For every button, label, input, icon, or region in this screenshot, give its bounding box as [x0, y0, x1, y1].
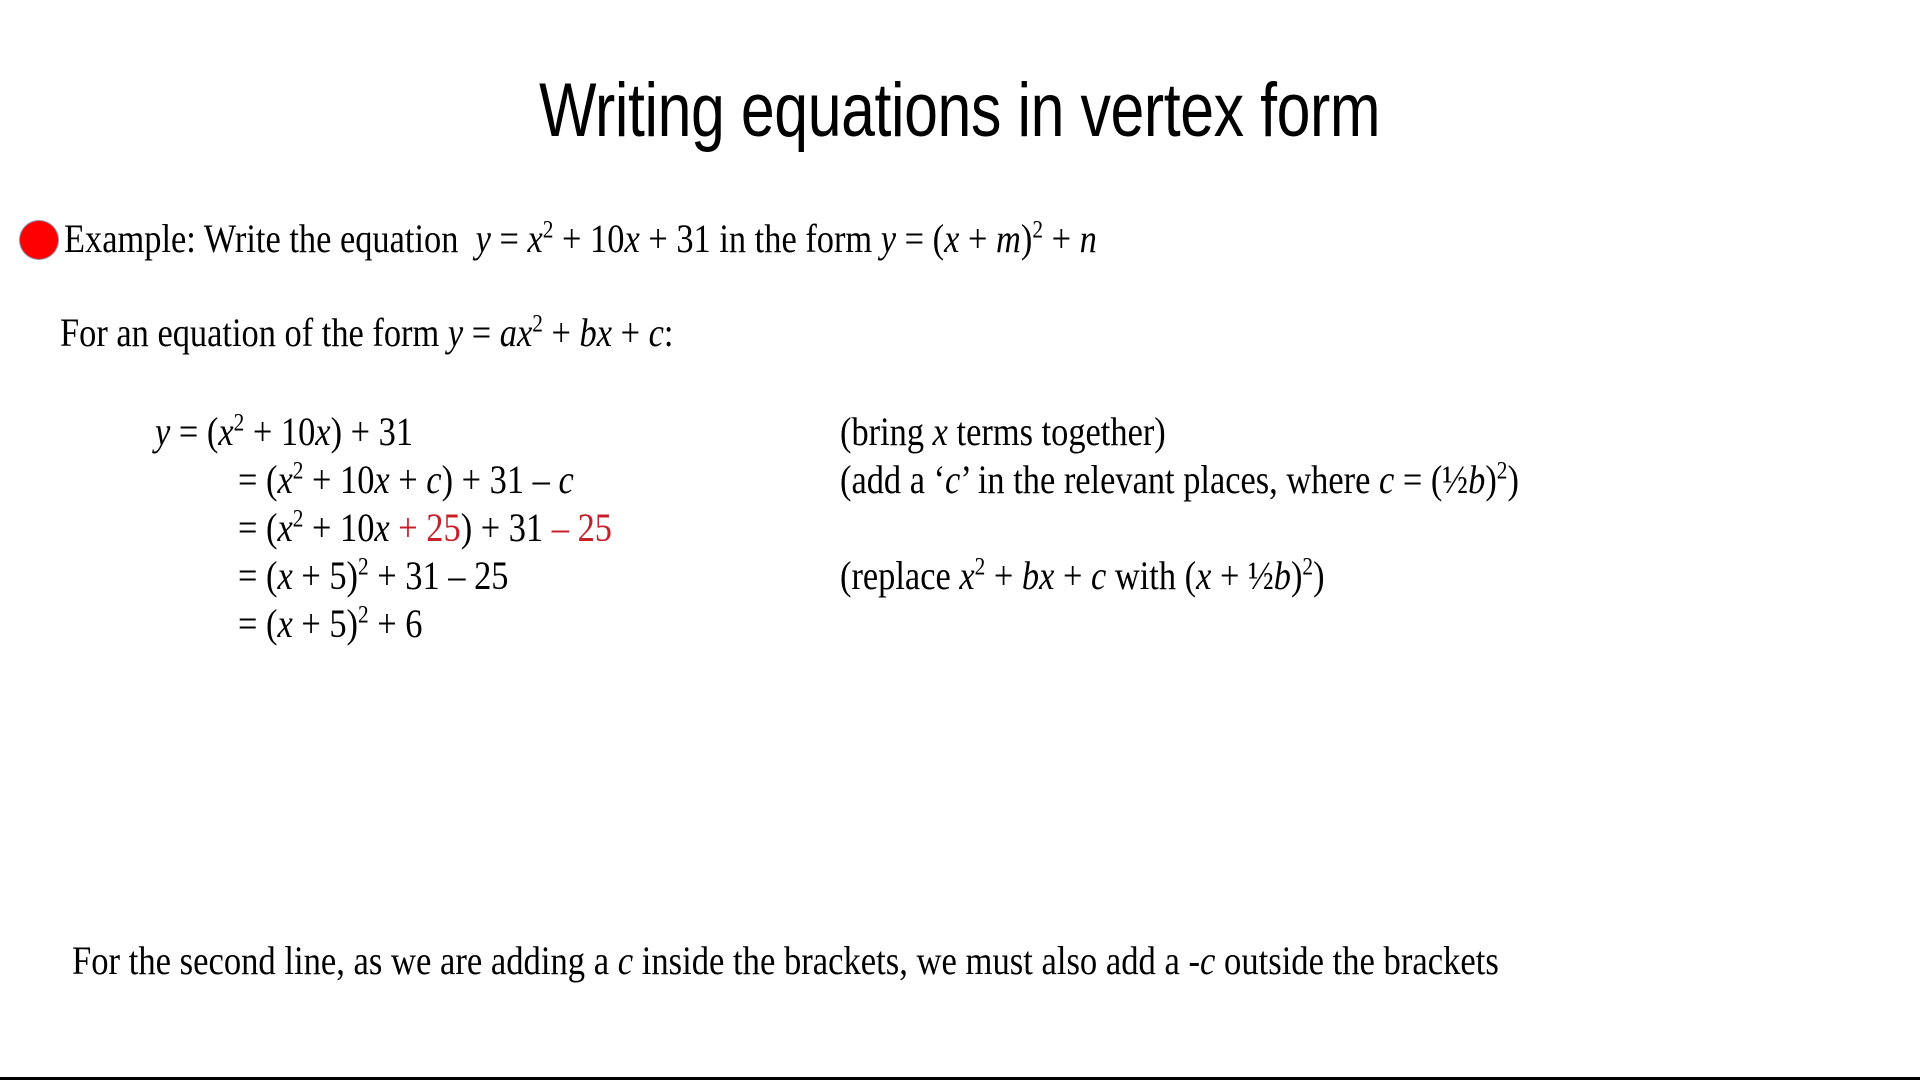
page-title: Writing equations in vertex form [0, 68, 1920, 154]
working-line-3: = (x2 + 10x + 25) + 31 – 25 [0, 504, 1920, 552]
working-block: y = (x2 + 10x) + 31 (bring x terms toget… [0, 408, 1920, 648]
working-line-4-note: (replace x2 + bx + c with (x + ½b)2) [840, 552, 1403, 600]
working-line-3-equation: = (x2 + 10x + 25) + 31 – 25 [238, 504, 673, 552]
footer-note: For the second line, as we are adding a … [72, 938, 1722, 984]
working-line-5: = (x + 5)2 + 6 [0, 600, 1920, 648]
example-bullet-row: Example: Write the equation y = x2 + 10x… [20, 216, 1265, 262]
working-line-1-equation: y = (x2 + 10x) + 31 [155, 408, 455, 456]
working-line-5-equation: = (x + 5)2 + 6 [238, 600, 453, 648]
working-line-2-equation: = (x2 + 10x + c) + 31 – c [238, 456, 628, 504]
page-title-text: Writing equations in vertex form [539, 68, 1380, 154]
working-line-2: = (x2 + 10x + c) + 31 – c (add a ‘c’ in … [0, 456, 1920, 504]
example-bullet-text: Example: Write the equation y = x2 + 10x… [64, 216, 1265, 262]
working-line-4-equation: = (x + 5)2 + 31 – 25 [238, 552, 553, 600]
working-line-1-note: (bring x terms together) [840, 408, 1219, 456]
working-line-2-note: (add a ‘c’ in the relevant places, where… [840, 456, 1629, 504]
working-line-1: y = (x2 + 10x) + 31 (bring x terms toget… [0, 408, 1920, 456]
red-circle-bullet-icon [20, 221, 58, 259]
working-line-4: = (x + 5)2 + 31 – 25 (replace x2 + bx + … [0, 552, 1920, 600]
slide-canvas: Writing equations in vertex form Example… [0, 0, 1920, 1080]
general-form-line: For an equation of the form y = ax2 + bx… [60, 310, 773, 356]
